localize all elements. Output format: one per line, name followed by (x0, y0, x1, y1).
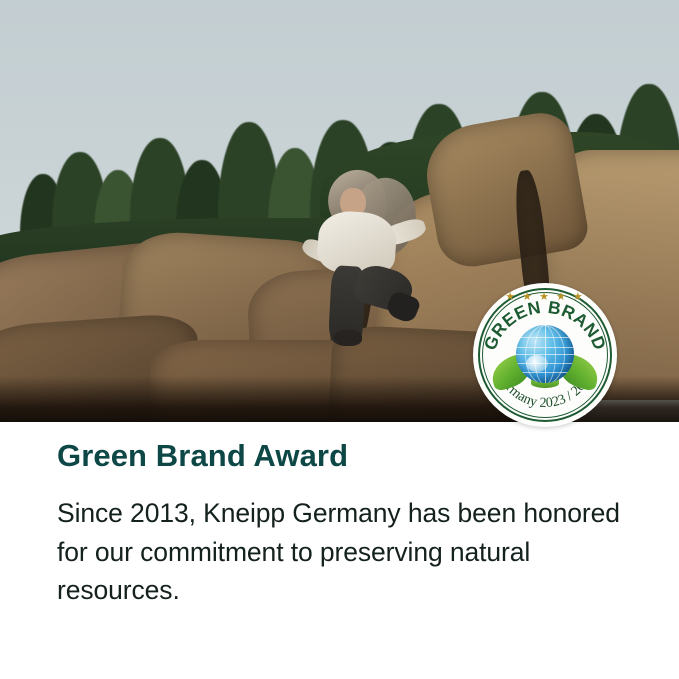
climbing-woman (300, 170, 420, 345)
globe-icon (516, 325, 574, 383)
text-content-block: Green Brand Award Since 2013, Kneipp Ger… (57, 437, 657, 609)
green-brand-badge: ★ ★ ★ ★ ★ GREEN BRAND Germany 2023 / 202… (473, 283, 617, 427)
green-brand-award-card: ★ ★ ★ ★ ★ GREEN BRAND Germany 2023 / 202… (0, 0, 679, 679)
body-paragraph: Since 2013, Kneipp Germany has been hono… (57, 494, 651, 609)
page-title: Green Brand Award (57, 437, 657, 474)
